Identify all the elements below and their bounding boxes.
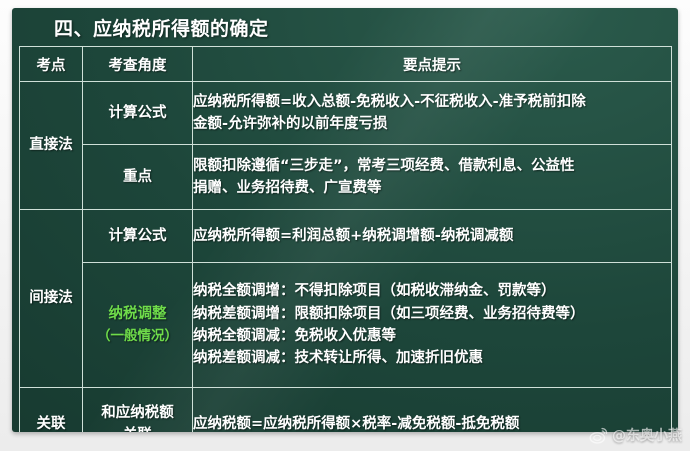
row-detail-nashuitiaozheng: 纳税全额调增：不得扣除项目（如税收滞纳金、罚款等） 纳税差额调增：限额扣除项目（… (193, 263, 672, 388)
slide-canvas: 四、应纳税所得额的确定 考点 考查角度 要点提示 直接法 计算公式 应纳税所得额… (0, 0, 690, 451)
column-header-kaochajiaodu: 考查角度 (83, 47, 193, 82)
row-detail-zhijiefa-formula: 应纳税所得额=收入总额-免税收入-不征税收入-准予税前扣除 金额-允许弥补的以前… (193, 82, 672, 145)
row-key-zhijiefa: 直接法 (20, 82, 83, 210)
slide-title-bar: 四、应纳税所得额的确定 (12, 8, 678, 46)
table-header-row: 考点 考查角度 要点提示 (20, 47, 672, 82)
knowledge-table: 考点 考查角度 要点提示 直接法 计算公式 应纳税所得额=收入总额-免税收入-不… (19, 46, 672, 432)
detail-line: 捐赠、业务招待费、广宣费等 (193, 177, 671, 199)
detail-line: 限额扣除遵循“三步走”，常考三项经费、借款利息、公益性 (193, 155, 671, 177)
row-detail-jianjiefa-formula: 应纳税所得额=利润总额+纳税调增额-纳税调减额 (193, 210, 672, 263)
table-row: 间接法 计算公式 应纳税所得额=利润总额+纳税调增额-纳税调减额 (20, 210, 672, 263)
row-key-jianjiefa: 间接法 (20, 210, 83, 388)
detail-line: 金额-允许弥补的以前年度亏损 (193, 113, 671, 135)
detail-line: 应纳税所得额=利润总额+纳税调增额-纳税调减额 (193, 225, 671, 247)
row-angle-zhongdian: 重点 (83, 145, 193, 210)
detail-line: 纳税差额调增：限额扣除项目（如三项经费、业务招待费等） (193, 303, 671, 325)
table-row: 重点 限额扣除遵循“三步走”，常考三项经费、借款利息、公益性 捐赠、业务招待费、… (20, 145, 672, 210)
row-angle-label: 和应纳税额 (83, 402, 192, 424)
detail-line: 纳税全额调增：不得扣除项目（如税收滞纳金、罚款等） (193, 280, 671, 302)
row-key-guanlian: 关联 (20, 388, 83, 433)
row-angle-sublabel: （一般情况） (83, 326, 192, 347)
page-title: 四、应纳税所得额的确定 (54, 14, 269, 41)
table-row: 关联 和应纳税额 关联 应纳税额=应纳税所得额×税率-减免税额-抵免税额 (20, 388, 672, 433)
row-angle-label: 纳税调整 (83, 303, 192, 325)
detail-line: 纳税全额调减：免税收入优惠等 (193, 325, 671, 347)
detail-line: 纳税差额调减：技术转让所得、加速折旧优惠 (193, 347, 671, 369)
row-angle-jisuangongshi-2: 计算公式 (83, 210, 193, 263)
column-header-yaodiantishi: 要点提示 (193, 47, 672, 82)
row-angle-nashuitiaozheng: 纳税调整 （一般情况） (83, 263, 193, 388)
row-angle-jisuangongshi-1: 计算公式 (83, 82, 193, 145)
content-board: 四、应纳税所得额的确定 考点 考查角度 要点提示 直接法 计算公式 应纳税所得额… (12, 8, 678, 432)
column-header-kaodian: 考点 (20, 47, 83, 82)
row-detail-zhongdian: 限额扣除遵循“三步走”，常考三项经费、借款利息、公益性 捐赠、业务招待费、广宣费… (193, 145, 672, 210)
row-angle-sublabel: 关联 (83, 424, 192, 432)
detail-line: 应纳税所得额=收入总额-免税收入-不征税收入-准予税前扣除 (193, 91, 671, 113)
row-detail-guanlian: 应纳税额=应纳税所得额×税率-减免税额-抵免税额 (193, 388, 672, 433)
table-row: 直接法 计算公式 应纳税所得额=收入总额-免税收入-不征税收入-准予税前扣除 金… (20, 82, 672, 145)
row-angle-guanlian: 和应纳税额 关联 (83, 388, 193, 433)
detail-line: 应纳税额=应纳税所得额×税率-减免税额-抵免税额 (193, 413, 671, 432)
table-row: 纳税调整 （一般情况） 纳税全额调增：不得扣除项目（如税收滞纳金、罚款等） 纳税… (20, 263, 672, 388)
